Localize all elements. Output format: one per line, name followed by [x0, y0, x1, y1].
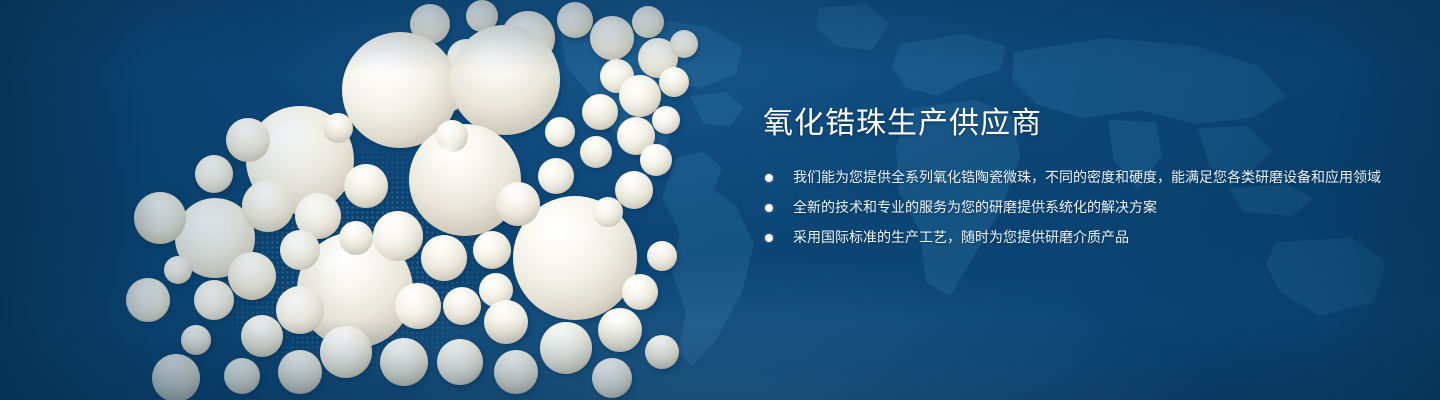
- list-item-label: 采用国际标准的生产工艺，随时为您提供研磨介质产品: [793, 226, 1383, 249]
- bullet-dot-icon: [765, 204, 773, 212]
- bullet-dot-icon: [765, 234, 773, 242]
- bullet-dot-icon: [765, 174, 773, 182]
- list-item-label: 全新的技术和专业的服务为您的研磨提供系统化的解决方案: [793, 196, 1383, 219]
- list-item-label: 我们能为您提供全系列氧化锆陶瓷微珠，不同的密度和硬度，能满足您各类研磨设备和应用…: [793, 166, 1383, 189]
- banner-copy: 氧化锆珠生产供应商 我们能为您提供全系列氧化锆陶瓷微珠，不同的密度和硬度，能满足…: [763, 104, 1383, 249]
- list-item: 采用国际标准的生产工艺，随时为您提供研磨介质产品: [763, 226, 1383, 249]
- list-item: 我们能为您提供全系列氧化锆陶瓷微珠，不同的密度和硬度，能满足您各类研磨设备和应用…: [763, 166, 1383, 189]
- hero-banner: 氧化锆珠生产供应商 我们能为您提供全系列氧化锆陶瓷微珠，不同的密度和硬度，能满足…: [0, 0, 1440, 400]
- feature-list: 我们能为您提供全系列氧化锆陶瓷微珠，不同的密度和硬度，能满足您各类研磨设备和应用…: [763, 166, 1383, 249]
- page-title: 氧化锆珠生产供应商: [763, 104, 1383, 144]
- list-item: 全新的技术和专业的服务为您的研磨提供系统化的解决方案: [763, 196, 1383, 219]
